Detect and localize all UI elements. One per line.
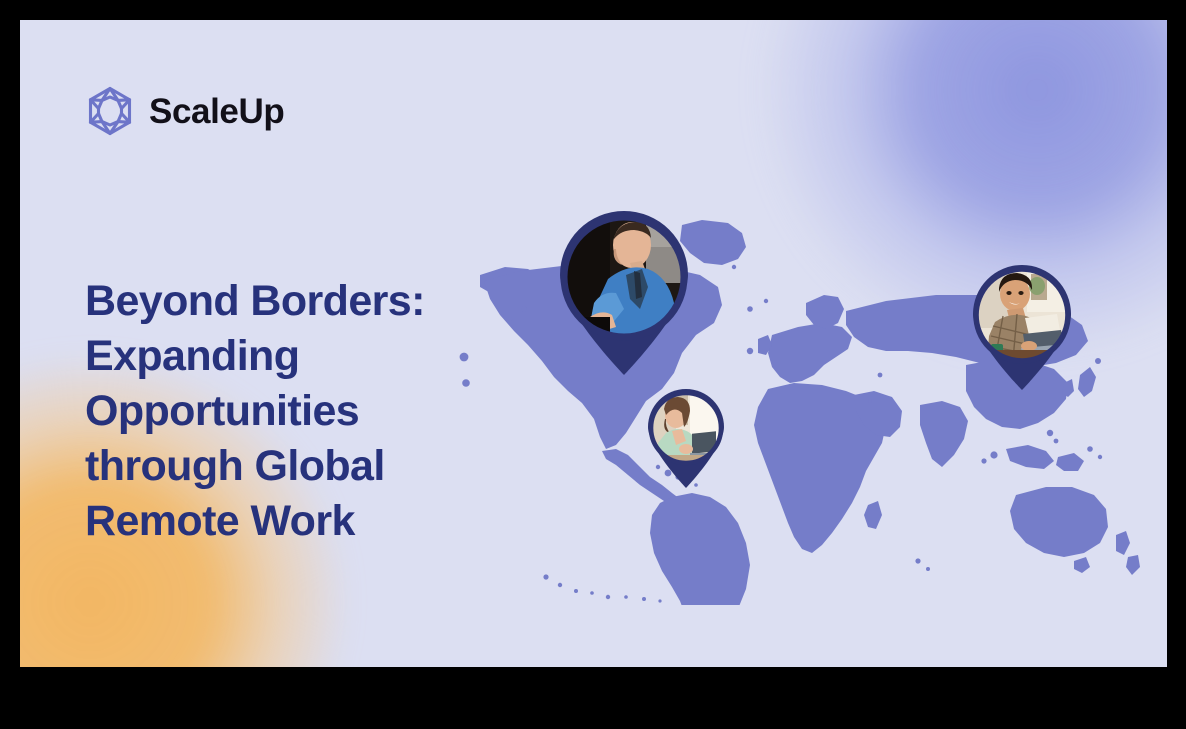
headline-line-5: Remote Work bbox=[85, 494, 485, 549]
brand-logo[interactable]: ScaleUp bbox=[84, 85, 284, 137]
world-map-graphic bbox=[450, 205, 1150, 605]
map-pin-north-america[interactable] bbox=[550, 205, 698, 377]
pin-shape-icon bbox=[965, 260, 1079, 392]
hexagon-gem-icon bbox=[84, 85, 136, 137]
slide-frame: ScaleUp Beyond Borders: Expanding Opport… bbox=[0, 0, 1186, 729]
slide-headline: Beyond Borders: Expanding Opportunities … bbox=[85, 274, 485, 549]
headline-line-4: through Global bbox=[85, 439, 485, 494]
headline-line-3: Opportunities bbox=[85, 384, 485, 439]
map-pin-asia[interactable] bbox=[965, 260, 1079, 392]
pin-shape-icon bbox=[642, 385, 730, 489]
brand-wordmark: ScaleUp bbox=[149, 94, 284, 129]
presentation-slide: ScaleUp Beyond Borders: Expanding Opport… bbox=[20, 20, 1167, 667]
map-pin-south-america[interactable] bbox=[642, 385, 730, 489]
headline-line-2: Expanding bbox=[85, 329, 485, 384]
pin-shape-icon bbox=[550, 205, 698, 377]
headline-line-1: Beyond Borders: bbox=[85, 274, 485, 329]
